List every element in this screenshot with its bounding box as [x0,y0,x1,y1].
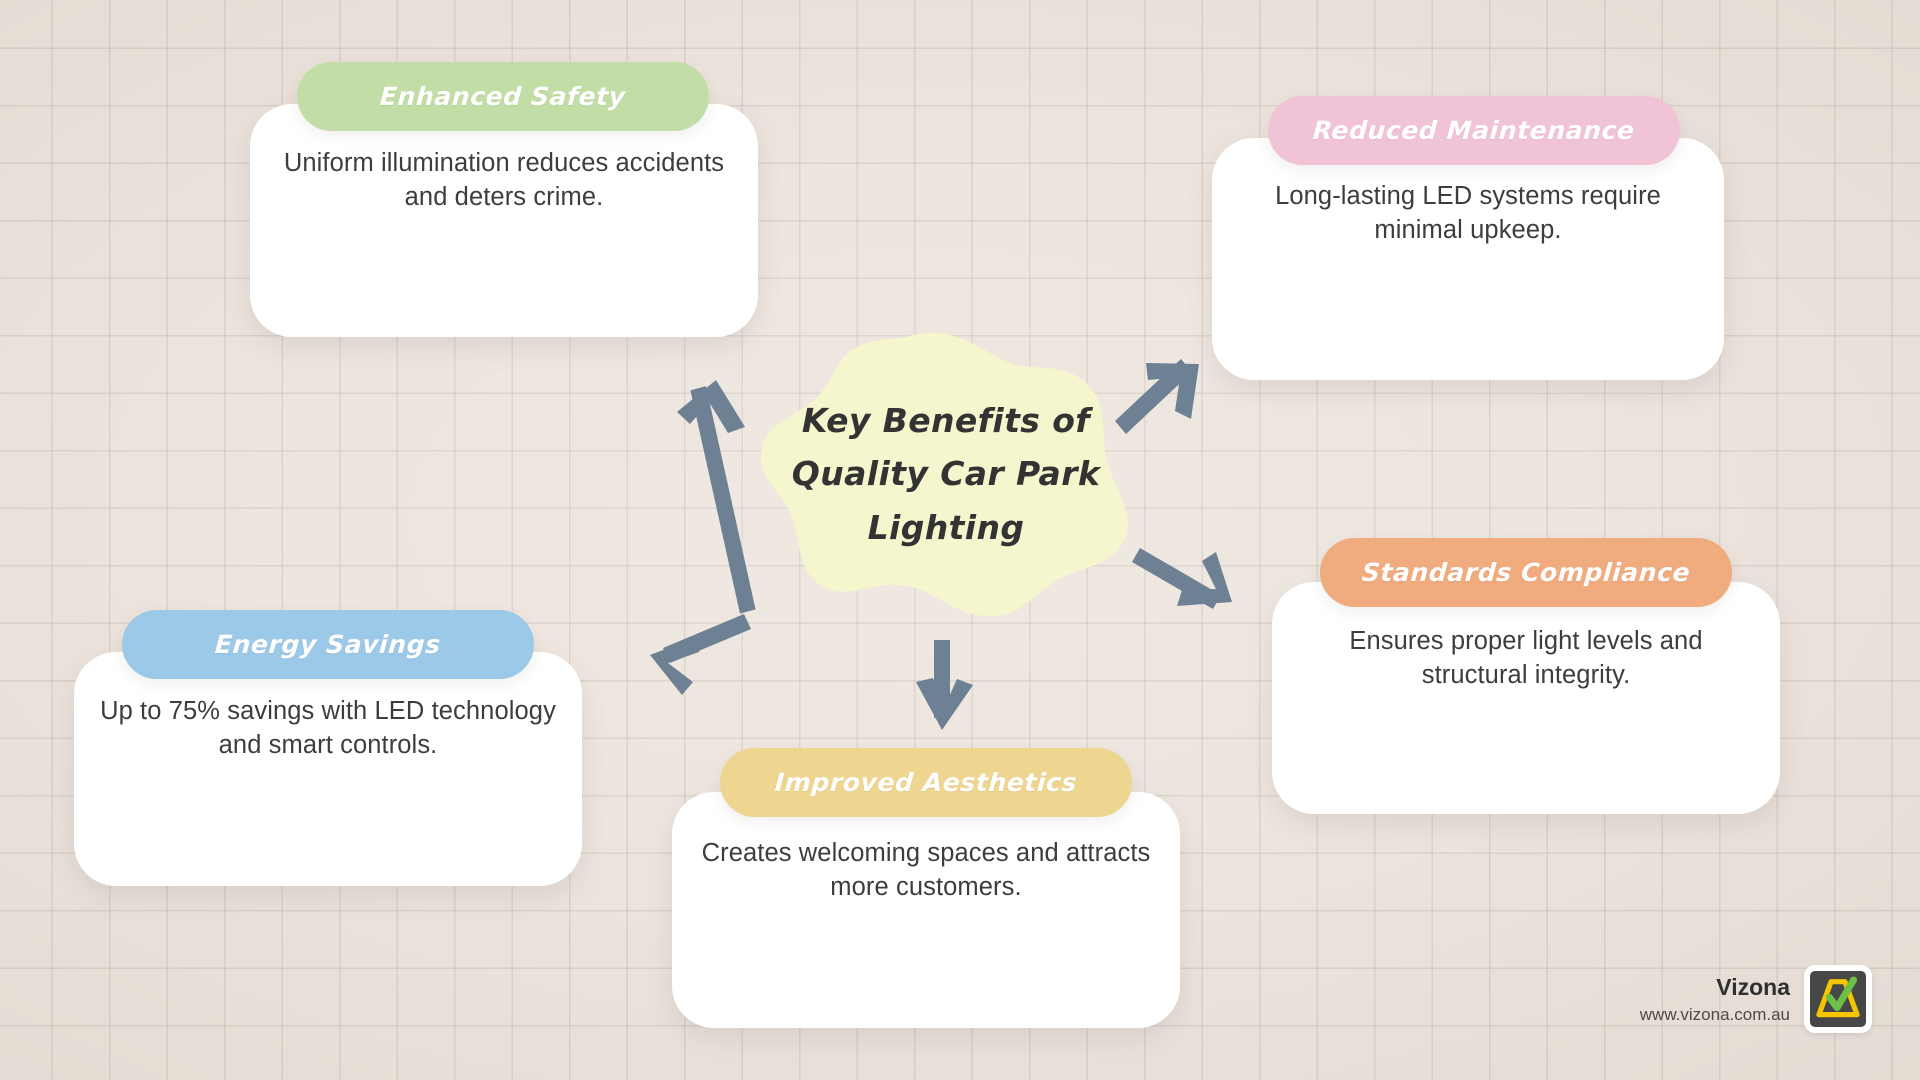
center-node-title: Key Benefits of Quality Car Park Lightin… [778,394,1114,554]
card-enhanced-safety-body: Uniform illumination reduces accidents a… [276,147,732,214]
card-improved-aesthetics-title: Improved Aesthetics [774,768,1078,797]
card-standards-compliance-header[interactable]: Standards Compliance [1320,538,1732,607]
card-energy-savings-header[interactable]: Energy Savings [122,610,534,679]
card-reduced-maintenance-body: Long-lasting LED systems require minimal… [1238,180,1698,247]
brand-url[interactable]: www.vizona.com.au [1640,1004,1790,1025]
center-title-line-2: Quality Car Park [778,447,1114,500]
card-enhanced-safety[interactable]: Uniform illumination reduces accidents a… [250,104,758,337]
card-reduced-maintenance-title: Reduced Maintenance [1312,116,1636,145]
center-node: Key Benefits of Quality Car Park Lightin… [760,330,1132,618]
card-reduced-maintenance-header[interactable]: Reduced Maintenance [1268,96,1680,165]
card-improved-aesthetics[interactable]: Creates welcoming spaces and attracts mo… [672,792,1180,1028]
card-enhanced-safety-title: Enhanced Safety [379,82,627,111]
card-standards-compliance[interactable]: Ensures proper light levels and structur… [1272,582,1780,814]
brand-text: Vizona www.vizona.com.au [1640,973,1790,1026]
vizona-logo-inner [1810,971,1866,1027]
card-enhanced-safety-header[interactable]: Enhanced Safety [297,62,709,131]
card-improved-aesthetics-header[interactable]: Improved Aesthetics [720,748,1132,817]
card-improved-aesthetics-body: Creates welcoming spaces and attracts mo… [698,837,1154,904]
center-title-line-3: Lighting [778,501,1114,554]
card-energy-savings-title: Energy Savings [214,630,442,659]
card-energy-savings[interactable]: Up to 75% savings with LED technology an… [74,652,582,886]
brand-name: Vizona [1640,973,1790,1002]
card-standards-compliance-body: Ensures proper light levels and structur… [1298,625,1754,692]
vizona-logo-icon[interactable] [1804,965,1872,1033]
brand-block: Vizona www.vizona.com.au [1640,965,1872,1033]
card-reduced-maintenance[interactable]: Long-lasting LED systems require minimal… [1212,138,1724,380]
card-standards-compliance-title: Standards Compliance [1361,558,1691,587]
card-energy-savings-body: Up to 75% savings with LED technology an… [100,695,556,762]
vizona-mark [1812,973,1864,1025]
center-title-line-1: Key Benefits of [778,394,1114,447]
